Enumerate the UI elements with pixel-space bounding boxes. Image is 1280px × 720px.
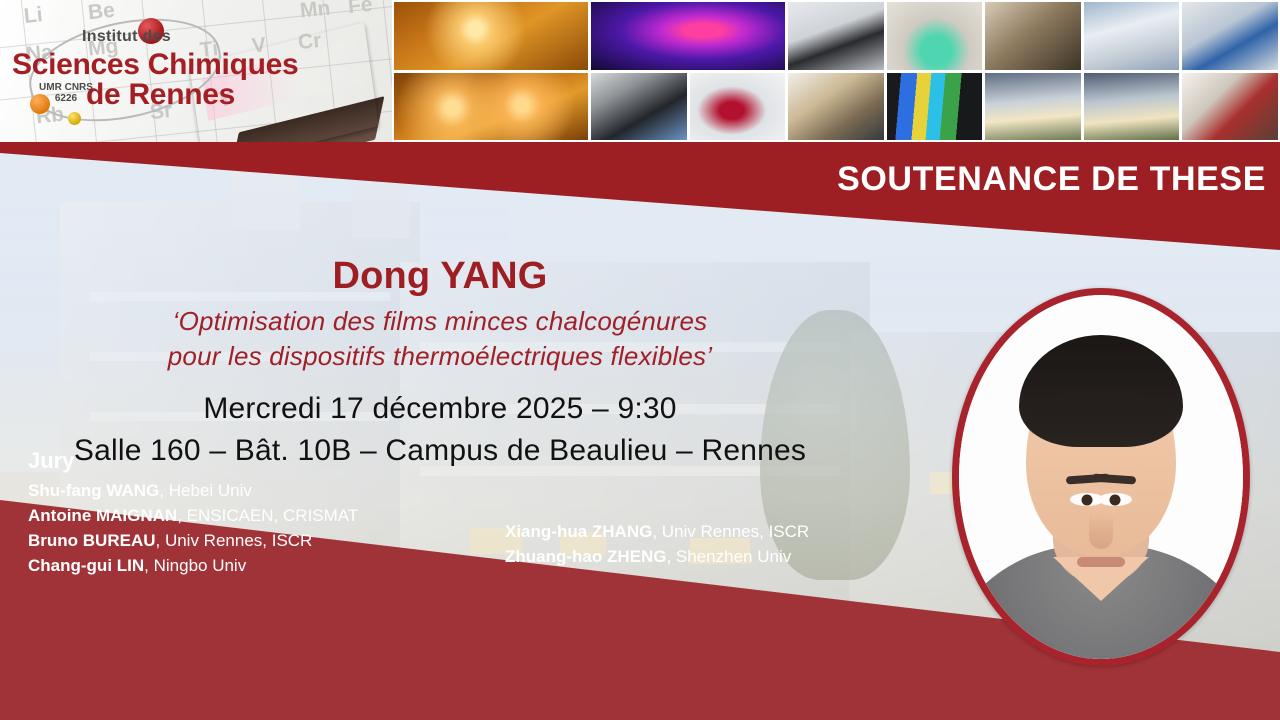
- atom-yellow-icon: [68, 112, 81, 125]
- thesis-defense-poster: Li Be Na Mg Ti V Cr Mn Fe Rb Sr Y Instit…: [0, 0, 1280, 720]
- logo-name-line1: Sciences Chimiques: [12, 48, 298, 82]
- portrait-eye-right: [1098, 493, 1132, 506]
- jury-member-name: Xiang-hua ZHANG: [505, 522, 652, 541]
- collage-tile-building-night-2: [1084, 73, 1180, 141]
- student-name: Dong YANG: [0, 255, 880, 298]
- element-symbol-be: Be: [87, 0, 116, 25]
- jury-member-affiliation: , Univ Rennes, ISCR: [652, 522, 809, 541]
- collage-tile-color-vials: [887, 73, 983, 141]
- collage-tile-researcher-laptop: [591, 73, 687, 141]
- collage-tile-researcher-microscope: [788, 73, 884, 141]
- collage-tile-researcher-2: [1182, 73, 1278, 141]
- header-strip: Li Be Na Mg Ti V Cr Mn Fe Rb Sr Y Instit…: [0, 0, 1280, 142]
- thesis-title-line-1: ‘Optimisation des films minces chalcogén…: [0, 304, 880, 339]
- jury-member: Zhuang-hao ZHENG, Shenzhen Univ: [505, 544, 809, 569]
- collage-tile-lab-equipment: [1182, 2, 1278, 70]
- avatar: [952, 288, 1250, 666]
- collage-tile-red-flask: [690, 73, 786, 141]
- jury-member-affiliation: , Hebei Univ: [159, 481, 252, 500]
- collage-tile-researcher-1: [985, 2, 1081, 70]
- jury-member-name: Antoine MAIGNAN: [28, 506, 177, 525]
- collage-tile-furnace-1: [394, 2, 588, 70]
- jury-left-column: Jury Shu-fang WANG, Hebei Univ Antoine M…: [28, 448, 358, 578]
- jury-member-name: Bruno BUREAU: [28, 531, 156, 550]
- jury-member: Antoine MAIGNAN, ENSICAEN, CRISMAT: [28, 503, 358, 528]
- jury-member-affiliation: , Shenzhen Univ: [666, 547, 791, 566]
- collage-tile-building-day-1: [1084, 2, 1180, 70]
- collage-tile-uv-glove: [591, 2, 785, 70]
- jury-member-name: Shu-fang WANG: [28, 481, 159, 500]
- portrait-nose: [1089, 509, 1113, 549]
- iscr-logo: Institut des Sciences Chimiques UMR CNRS…: [10, 26, 260, 118]
- jury-member: Chang-gui LIN, Ningbo Univ: [28, 553, 358, 578]
- thesis-title: ‘Optimisation des films minces chalcogén…: [0, 304, 880, 374]
- jury-member: Shu-fang WANG, Hebei Univ: [28, 478, 358, 503]
- collage-tile-green-flask: [887, 2, 983, 70]
- thesis-title-line-2: pour les dispositifs thermoélectriques f…: [0, 339, 880, 374]
- element-symbol-fe: Fe: [347, 0, 374, 19]
- jury-member-affiliation: , Univ Rennes, ISCR: [156, 531, 313, 550]
- photo-collage: [392, 0, 1280, 142]
- jury-member: Bruno BUREAU, Univ Rennes, ISCR: [28, 528, 358, 553]
- portrait-eyebrow-right: [1092, 473, 1136, 484]
- collage-tile-building-night-1: [985, 73, 1081, 141]
- jury-member-name: Zhuang-hao ZHENG: [505, 547, 666, 566]
- defense-datetime: Mercredi 17 décembre 2025 – 9:30: [0, 392, 880, 426]
- collage-tile-furnace-2: [394, 73, 588, 141]
- logo-name-line2: de Rennes: [86, 78, 235, 112]
- portrait-mouth: [1077, 557, 1125, 567]
- jury-heading: Jury: [28, 448, 358, 474]
- logo-institute-line: Institut des: [82, 28, 171, 46]
- jury-right-column: Xiang-hua ZHANG, Univ Rennes, ISCR Zhuan…: [505, 519, 809, 569]
- collage-tile-instrument: [788, 2, 884, 70]
- jury-member: Xiang-hua ZHANG, Univ Rennes, ISCR: [505, 519, 809, 544]
- element-symbol-mn: Mn: [299, 0, 332, 24]
- jury-member-affiliation: , Ningbo Univ: [144, 556, 246, 575]
- jury-member-affiliation: , ENSICAEN, CRISMAT: [177, 506, 358, 525]
- jury-member-name: Chang-gui LIN: [28, 556, 144, 575]
